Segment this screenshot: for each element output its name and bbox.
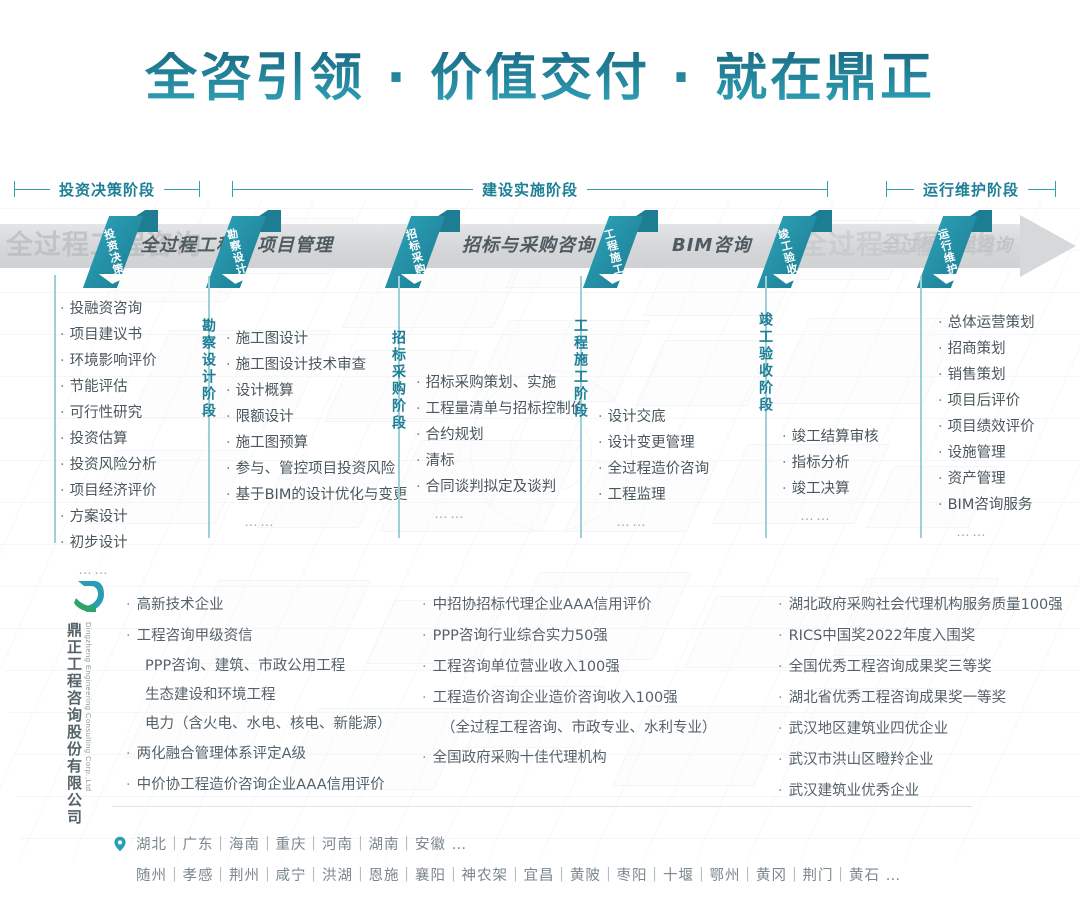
stage-list-ellipsis: …… xyxy=(416,500,585,526)
stage-item-list-3: ·招标采购策划、实施·工程量清单与招标控制价·合约规划·清标·合同谈判拟定及谈判… xyxy=(416,370,585,526)
bracket-bar-right xyxy=(164,189,199,190)
bullet-dot-icon: · xyxy=(598,409,603,425)
bracket-bar-right xyxy=(1028,189,1055,190)
credential-subitem: PPP咨询、建筑、市政公用工程 xyxy=(126,652,392,681)
location-pin-icon xyxy=(112,835,132,853)
bullet-dot-icon: · xyxy=(422,750,427,766)
credential-item: ·工程咨询单位营业收入100强 xyxy=(422,652,717,683)
bullet-dot-icon: · xyxy=(778,690,783,706)
footer-divider xyxy=(112,806,972,807)
bullet-dot-icon: · xyxy=(226,409,231,425)
stage-vertical-label-4: 工程施工阶段 xyxy=(570,318,590,420)
bullet-dot-icon: · xyxy=(416,427,421,443)
stage-list-item: ·合约规划 xyxy=(416,422,585,448)
stage-list-item: ·施工图预算 xyxy=(226,430,407,456)
phase-bracket-1: 投资决策阶段 xyxy=(14,176,200,202)
stage-list-item: ·投融资咨询 xyxy=(60,296,157,322)
stage-list-item: ·参与、管控项目投资风险 xyxy=(226,456,407,482)
bullet-dot-icon: · xyxy=(60,405,65,421)
stage-list-item: ·节能评估 xyxy=(60,374,157,400)
stage-ribbon-5[interactable]: 竣工验收 xyxy=(770,210,832,288)
credential-item: ·武汉建筑业优秀企业 xyxy=(778,776,1063,807)
stage-list-item: ·BIM咨询服务 xyxy=(938,492,1035,518)
stage-list-item: ·竣工结算审核 xyxy=(782,424,879,450)
credential-item: ·全国优秀工程咨询成果奖三等奖 xyxy=(778,652,1063,683)
bullet-dot-icon: · xyxy=(226,357,231,373)
bullet-dot-icon: · xyxy=(778,628,783,644)
stage-list-item: ·招标采购策划、实施 xyxy=(416,370,585,396)
bullet-dot-icon: · xyxy=(938,445,943,461)
stage-list-item: ·总体运营策划 xyxy=(938,310,1035,336)
bullet-dot-icon: · xyxy=(60,301,65,317)
bullet-dot-icon: · xyxy=(782,481,787,497)
credential-subitem: 生态建设和环境工程 xyxy=(126,681,392,710)
credential-item: ·中招协招标代理企业AAA信用评价 xyxy=(422,590,717,621)
bullet-dot-icon: · xyxy=(126,746,131,762)
stage-list-item: ·项目后评价 xyxy=(938,388,1035,414)
stage-list-item: ·全过程造价咨询 xyxy=(598,456,709,482)
stage-list-item: ·项目经济评价 xyxy=(60,478,157,504)
stage-list-item: ·资产管理 xyxy=(938,466,1035,492)
stage-list-item: ·初步设计 xyxy=(60,530,157,556)
credential-column-2: ·中招协招标代理企业AAA信用评价·PPP咨询行业综合实力50强·工程咨询单位营… xyxy=(422,590,717,774)
band-title-4: BIM咨询 xyxy=(672,224,751,268)
stage-list-item: ·基于BIM的设计优化与变更 xyxy=(226,482,407,508)
bullet-dot-icon: · xyxy=(416,375,421,391)
bullet-dot-icon: · xyxy=(938,471,943,487)
bullet-dot-icon: · xyxy=(422,690,427,706)
stage-list-item: ·合同谈判拟定及谈判 xyxy=(416,474,585,500)
credential-item: ·PPP咨询行业综合实力50强 xyxy=(422,621,717,652)
credential-item: ·工程咨询甲级资信 xyxy=(126,621,392,652)
bullet-dot-icon: · xyxy=(598,435,603,451)
credential-item: ·RICS中国奖2022年度入围奖 xyxy=(778,621,1063,652)
credential-item: ·两化融合管理体系评定A级 xyxy=(126,739,392,770)
bullet-dot-icon: · xyxy=(778,783,783,799)
credential-column-3: ·湖北政府采购社会代理机构服务质量100强·RICS中国奖2022年度入围奖·全… xyxy=(778,590,1063,807)
bullet-dot-icon: · xyxy=(60,535,65,551)
stage-item-list-2: ·施工图设计·施工图设计技术审查·设计概算·限额设计·施工图预算·参与、管控项目… xyxy=(226,326,407,534)
bullet-dot-icon: · xyxy=(60,431,65,447)
stage-list-item: ·项目绩效评价 xyxy=(938,414,1035,440)
bullet-dot-icon: · xyxy=(126,597,131,613)
footer-cities-text: 随州｜孝感｜荆州｜咸宁｜洪湖｜恩施｜襄阳｜神农架｜宜昌｜黄陂｜枣阳｜十堰｜鄂州｜… xyxy=(112,864,901,885)
arrow-head-icon xyxy=(1020,215,1076,277)
bullet-dot-icon: · xyxy=(60,327,65,343)
bullet-dot-icon: · xyxy=(422,659,427,675)
credential-item: ·湖北省优秀工程咨询成果奖一等奖 xyxy=(778,683,1063,714)
credential-item: ·湖北政府采购社会代理机构服务质量100强 xyxy=(778,590,1063,621)
bracket-cap-right xyxy=(199,181,200,197)
stage-list-item: ·竣工决算 xyxy=(782,476,879,502)
bullet-dot-icon: · xyxy=(778,597,783,613)
phase-label: 建设实施阶段 xyxy=(473,179,587,200)
stage-item-list-1: ·投融资咨询·项目建议书·环境影响评价·节能评估·可行性研究·投资估算·投资风险… xyxy=(60,296,157,582)
stage-list-item: ·环境影响评价 xyxy=(60,348,157,374)
credential-subitem: （全过程工程咨询、市政专业、水利专业） xyxy=(422,714,717,743)
stage-list-ellipsis: …… xyxy=(598,508,709,534)
process-arrow-band: 全过程工程咨询 全过程工程咨询 全过程工程项目管理招标与采购咨询BIM咨询全过程… xyxy=(0,224,1080,268)
page-title: 全咨引领 · 价值交付 · 就在鼎正 xyxy=(145,52,935,104)
company-name-en: Dingzheng Engineering Consulting Corp.,L… xyxy=(84,622,93,791)
bullet-dot-icon: · xyxy=(226,487,231,503)
band-title-3: 招标与采购咨询 xyxy=(462,224,595,268)
bullet-dot-icon: · xyxy=(422,628,427,644)
bullet-dot-icon: · xyxy=(226,331,231,347)
stage-list-ellipsis: …… xyxy=(226,508,407,534)
credential-column-1: ·高新技术企业·工程咨询甲级资信PPP咨询、建筑、市政公用工程生态建设和环境工程… xyxy=(126,590,392,801)
bullet-dot-icon: · xyxy=(938,341,943,357)
bullet-dot-icon: · xyxy=(60,509,65,525)
stage-list-item: ·设计概算 xyxy=(226,378,407,404)
bullet-dot-icon: · xyxy=(598,487,603,503)
stage-list-item: ·施工图设计技术审查 xyxy=(226,352,407,378)
stage-list-item: ·投资估算 xyxy=(60,426,157,452)
footer-row-provinces: 湖北｜广东｜海南｜重庆｜河南｜湖南｜安徽 … xyxy=(112,828,1012,859)
footer-row-cities: 随州｜孝感｜荆州｜咸宁｜洪湖｜恩施｜襄阳｜神农架｜宜昌｜黄陂｜枣阳｜十堰｜鄂州｜… xyxy=(112,859,1012,890)
stage-list-item: ·限额设计 xyxy=(226,404,407,430)
stage-list-item: ·清标 xyxy=(416,448,585,474)
bracket-bar-left xyxy=(887,189,914,190)
credential-item: ·全国政府采购十佳代理机构 xyxy=(422,743,717,774)
stage-list-item: ·可行性研究 xyxy=(60,400,157,426)
stage-list-item: ·设施管理 xyxy=(938,440,1035,466)
company-name-cn: 鼎正工程咨询股份有限公司 xyxy=(64,622,85,826)
bullet-dot-icon: · xyxy=(938,315,943,331)
stage-vertical-label-3: 招标采购阶段 xyxy=(388,330,408,432)
bullet-dot-icon: · xyxy=(938,497,943,513)
bracket-bar-right xyxy=(587,189,827,190)
stage-list-ellipsis: …… xyxy=(782,502,879,528)
stage-ribbon-3[interactable]: 招标采购 xyxy=(398,210,460,288)
bullet-dot-icon: · xyxy=(416,401,421,417)
phase-label: 投资决策阶段 xyxy=(50,179,164,200)
stage-list-item: ·招商策划 xyxy=(938,336,1035,362)
bullet-dot-icon: · xyxy=(938,393,943,409)
footer-provinces-text: 湖北｜广东｜海南｜重庆｜河南｜湖南｜安徽 … xyxy=(136,833,467,854)
stage-list-item: ·工程监理 xyxy=(598,482,709,508)
stage-list-item: ·销售策划 xyxy=(938,362,1035,388)
stage-list-item: ·工程量清单与招标控制价 xyxy=(416,396,585,422)
stage-connector-line-6 xyxy=(920,276,922,538)
credential-item: ·高新技术企业 xyxy=(126,590,392,621)
stage-ribbon-4[interactable]: 工程施工 xyxy=(596,210,658,288)
bullet-dot-icon: · xyxy=(598,461,603,477)
bullet-dot-icon: · xyxy=(416,479,421,495)
credential-item: ·中价协工程造价咨询企业AAA信用评价 xyxy=(126,770,392,801)
credential-item: ·工程造价咨询企业造价咨询收入100强 xyxy=(422,683,717,714)
bracket-bar-left xyxy=(15,189,50,190)
stage-item-list-6: ·总体运营策划·招商策划·销售策划·项目后评价·项目绩效评价·设施管理·资产管理… xyxy=(938,310,1035,544)
bullet-dot-icon: · xyxy=(60,457,65,473)
bullet-dot-icon: · xyxy=(778,659,783,675)
stage-ribbon-1[interactable]: 投资决策 xyxy=(96,210,158,288)
stage-vertical-label-2: 勘察设计阶段 xyxy=(198,318,218,420)
phase-label: 运行维护阶段 xyxy=(914,179,1028,200)
bracket-cap-right xyxy=(827,181,828,197)
stage-connector-line-1 xyxy=(54,275,56,543)
bullet-dot-icon: · xyxy=(226,435,231,451)
company-logo-block: 鼎正工程咨询股份有限公司 Dingzheng Engineering Consu… xyxy=(58,578,120,793)
bullet-dot-icon: · xyxy=(938,419,943,435)
bracket-cap-right xyxy=(1055,181,1056,197)
stage-list-item: ·项目建议书 xyxy=(60,322,157,348)
bullet-dot-icon: · xyxy=(126,628,131,644)
stage-item-list-4: ·设计交底·设计变更管理·全过程造价咨询·工程监理…… xyxy=(598,404,709,534)
stage-ribbon-2[interactable]: 勘察设计 xyxy=(219,210,281,288)
stage-ribbon-6[interactable]: 运行维护 xyxy=(930,210,992,288)
stage-list-item: ·设计变更管理 xyxy=(598,430,709,456)
phase-bracket-row: 投资决策阶段建设实施阶段运行维护阶段 xyxy=(0,176,1080,202)
bullet-dot-icon: · xyxy=(782,429,787,445)
bracket-bar-left xyxy=(233,189,473,190)
bullet-dot-icon: · xyxy=(60,379,65,395)
bullet-dot-icon: · xyxy=(782,455,787,471)
bullet-dot-icon: · xyxy=(778,752,783,768)
phase-bracket-2: 建设实施阶段 xyxy=(232,176,828,202)
bullet-dot-icon: · xyxy=(416,453,421,469)
bullet-dot-icon: · xyxy=(778,721,783,737)
credential-item: ·武汉市洪山区瞪羚企业 xyxy=(778,745,1063,776)
credential-item: ·武汉地区建筑业四优企业 xyxy=(778,714,1063,745)
stage-vertical-label-5: 竣工验收阶段 xyxy=(755,312,775,414)
dingzheng-logo-icon xyxy=(72,578,106,616)
stage-list-ellipsis: …… xyxy=(938,518,1035,544)
bullet-dot-icon: · xyxy=(938,367,943,383)
bullet-dot-icon: · xyxy=(126,777,131,793)
stage-list-item: ·指标分析 xyxy=(782,450,879,476)
stage-list-item: ·设计交底 xyxy=(598,404,709,430)
stage-list-item: ·投资风险分析 xyxy=(60,452,157,478)
bullet-dot-icon: · xyxy=(60,483,65,499)
bullet-dot-icon: · xyxy=(226,461,231,477)
phase-bracket-3: 运行维护阶段 xyxy=(886,176,1056,202)
bullet-dot-icon: · xyxy=(60,353,65,369)
stage-list-item: ·方案设计 xyxy=(60,504,157,530)
stage-item-list-5: ·竣工结算审核·指标分析·竣工决算…… xyxy=(782,424,879,528)
bullet-dot-icon: · xyxy=(422,597,427,613)
stage-list-item: ·施工图设计 xyxy=(226,326,407,352)
credential-subitem: 电力（含火电、水电、核电、新能源） xyxy=(126,710,392,739)
bullet-dot-icon: · xyxy=(226,383,231,399)
title-section: 全咨引领 · 价值交付 · 就在鼎正 鼎正 xyxy=(0,52,1080,104)
footer-locations: 湖北｜广东｜海南｜重庆｜河南｜湖南｜安徽 … 随州｜孝感｜荆州｜咸宁｜洪湖｜恩施… xyxy=(112,828,1012,890)
